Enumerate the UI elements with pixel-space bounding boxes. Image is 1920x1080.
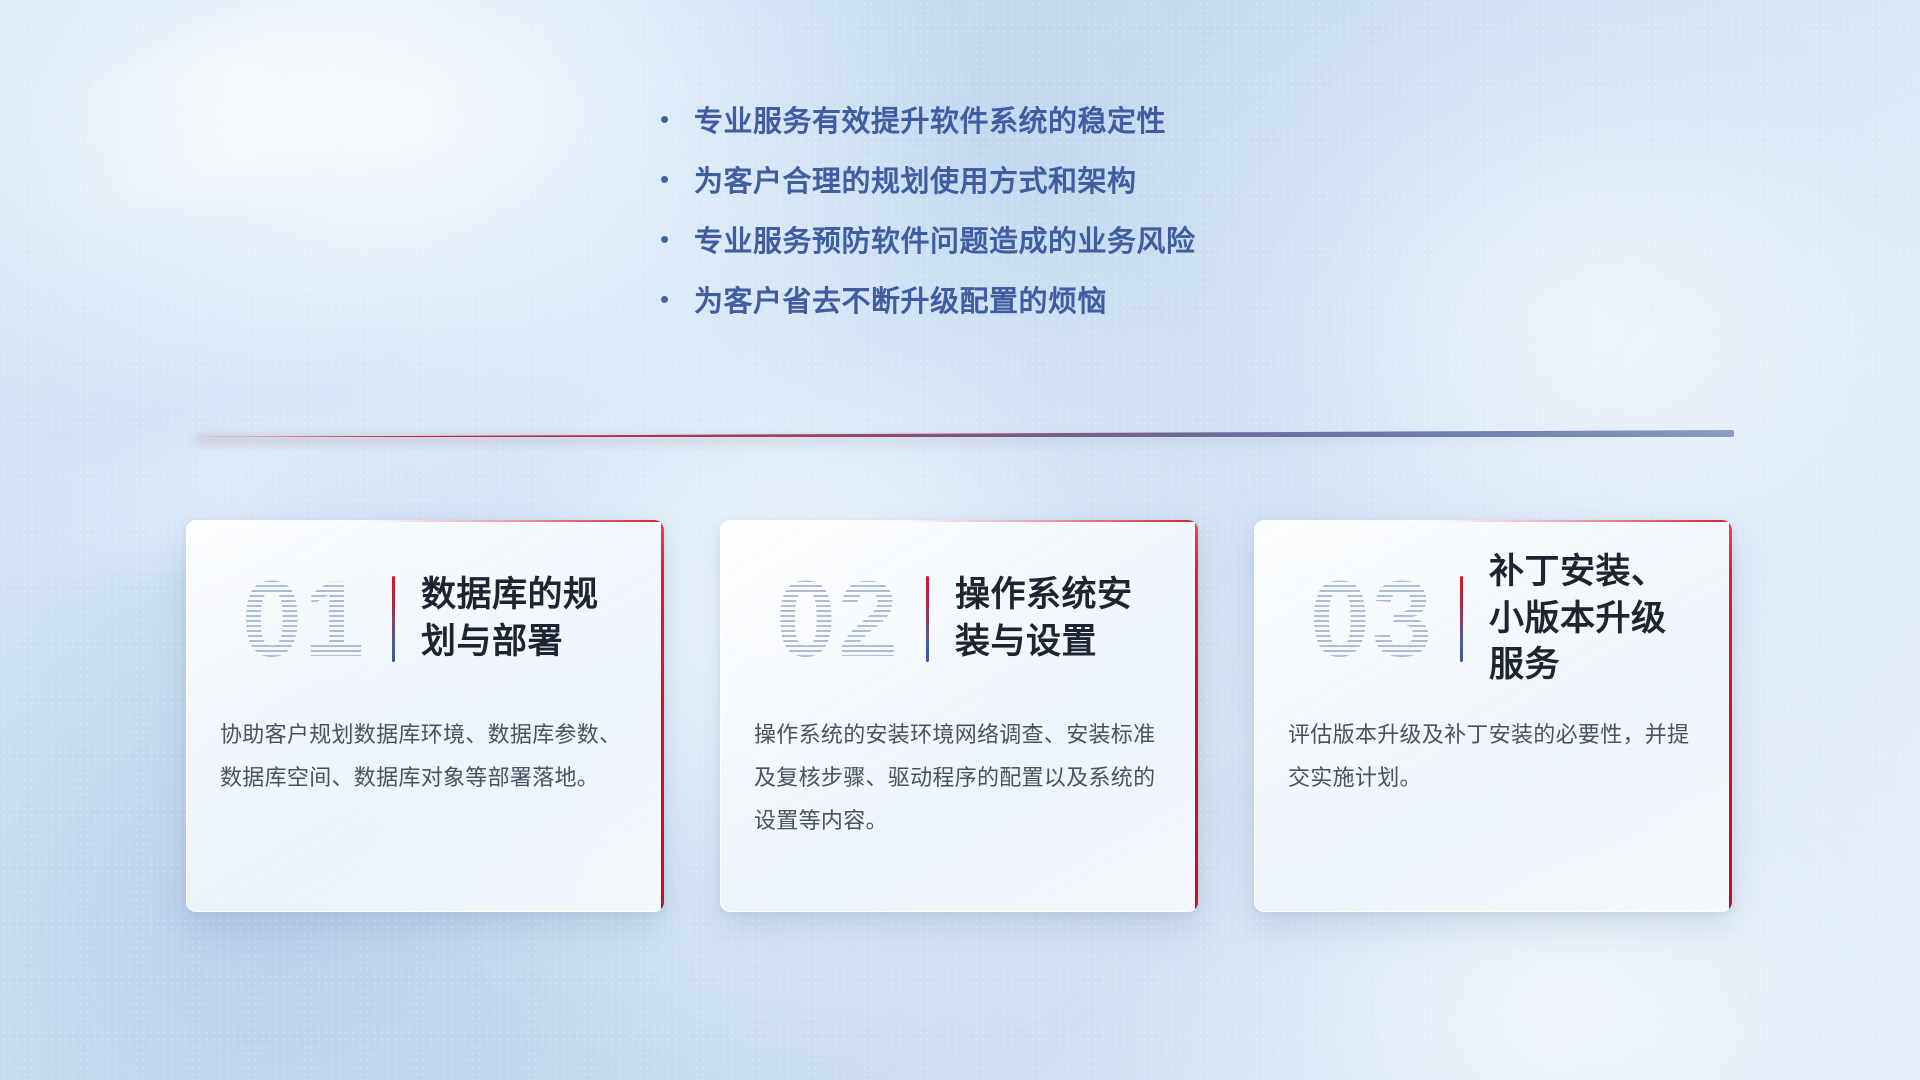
bullet-text: 专业服务有效提升软件系统的稳定性 bbox=[694, 104, 1166, 141]
list-item: • 为客户合理的规划使用方式和架构 bbox=[660, 164, 1400, 201]
card-accent-rail bbox=[1729, 520, 1732, 912]
section-divider-shadow bbox=[196, 436, 1729, 444]
card-header: 01 数据库的规划与部署 bbox=[220, 558, 630, 680]
card-divider-rule bbox=[926, 576, 929, 662]
card-title: 操作系统安装与设置 bbox=[955, 572, 1164, 666]
service-card-01[interactable]: 01 数据库的规划与部署 协助客户规划数据库环境、数据库参数、数据库空间、数据库… bbox=[186, 520, 664, 912]
card-body-text: 协助客户规划数据库环境、数据库参数、数据库空间、数据库对象等部署落地。 bbox=[220, 714, 630, 800]
bullet-text: 为客户省去不断升级配置的烦恼 bbox=[694, 284, 1107, 321]
card-body-text: 操作系统的安装环境网络调查、安装标准及复核步骤、驱动程序的配置以及系统的设置等内… bbox=[754, 714, 1164, 843]
card-accent-top bbox=[368, 520, 664, 522]
card-number: 03 bbox=[1288, 565, 1456, 673]
section-divider bbox=[186, 424, 1734, 446]
list-item: • 专业服务预防软件问题造成的业务风险 bbox=[660, 224, 1400, 261]
card-body-text: 评估版本升级及补丁安装的必要性，并提交实施计划。 bbox=[1288, 714, 1698, 800]
service-card-list: 01 数据库的规划与部署 协助客户规划数据库环境、数据库参数、数据库空间、数据库… bbox=[186, 520, 1734, 912]
card-title: 数据库的规划与部署 bbox=[421, 572, 630, 666]
service-card-02[interactable]: 02 操作系统安装与设置 操作系统的安装环境网络调查、安装标准及复核步骤、驱动程… bbox=[720, 520, 1198, 912]
list-item: • 专业服务有效提升软件系统的稳定性 bbox=[660, 104, 1400, 141]
card-divider-rule bbox=[1460, 576, 1463, 662]
bullet-dot-icon: • bbox=[660, 166, 694, 192]
card-divider-rule bbox=[392, 576, 395, 662]
card-accent-top bbox=[1436, 520, 1732, 522]
bullet-text: 为客户合理的规划使用方式和架构 bbox=[694, 164, 1137, 201]
bullet-text: 专业服务预防软件问题造成的业务风险 bbox=[694, 224, 1196, 261]
bullet-dot-icon: • bbox=[660, 226, 694, 252]
card-accent-rail bbox=[1195, 520, 1198, 912]
service-card-03[interactable]: 03 补丁安装、小版本升级服务 评估版本升级及补丁安装的必要性，并提交实施计划。 bbox=[1254, 520, 1732, 912]
slide-root: • 专业服务有效提升软件系统的稳定性 • 为客户合理的规划使用方式和架构 • 专… bbox=[0, 0, 1920, 1080]
card-accent-rail bbox=[661, 520, 664, 912]
card-accent-top bbox=[902, 520, 1198, 522]
section-divider-line bbox=[186, 430, 1734, 437]
bullet-dot-icon: • bbox=[660, 106, 694, 132]
benefits-bullet-list: • 专业服务有效提升软件系统的稳定性 • 为客户合理的规划使用方式和架构 • 专… bbox=[660, 104, 1400, 344]
card-number: 02 bbox=[754, 565, 922, 673]
card-number: 01 bbox=[220, 565, 388, 673]
card-title: 补丁安装、小版本升级服务 bbox=[1489, 549, 1698, 690]
card-header: 03 补丁安装、小版本升级服务 bbox=[1288, 558, 1698, 680]
bullet-dot-icon: • bbox=[660, 286, 694, 312]
background-streak bbox=[28, 0, 482, 230]
list-item: • 为客户省去不断升级配置的烦恼 bbox=[660, 284, 1400, 321]
card-header: 02 操作系统安装与设置 bbox=[754, 558, 1164, 680]
